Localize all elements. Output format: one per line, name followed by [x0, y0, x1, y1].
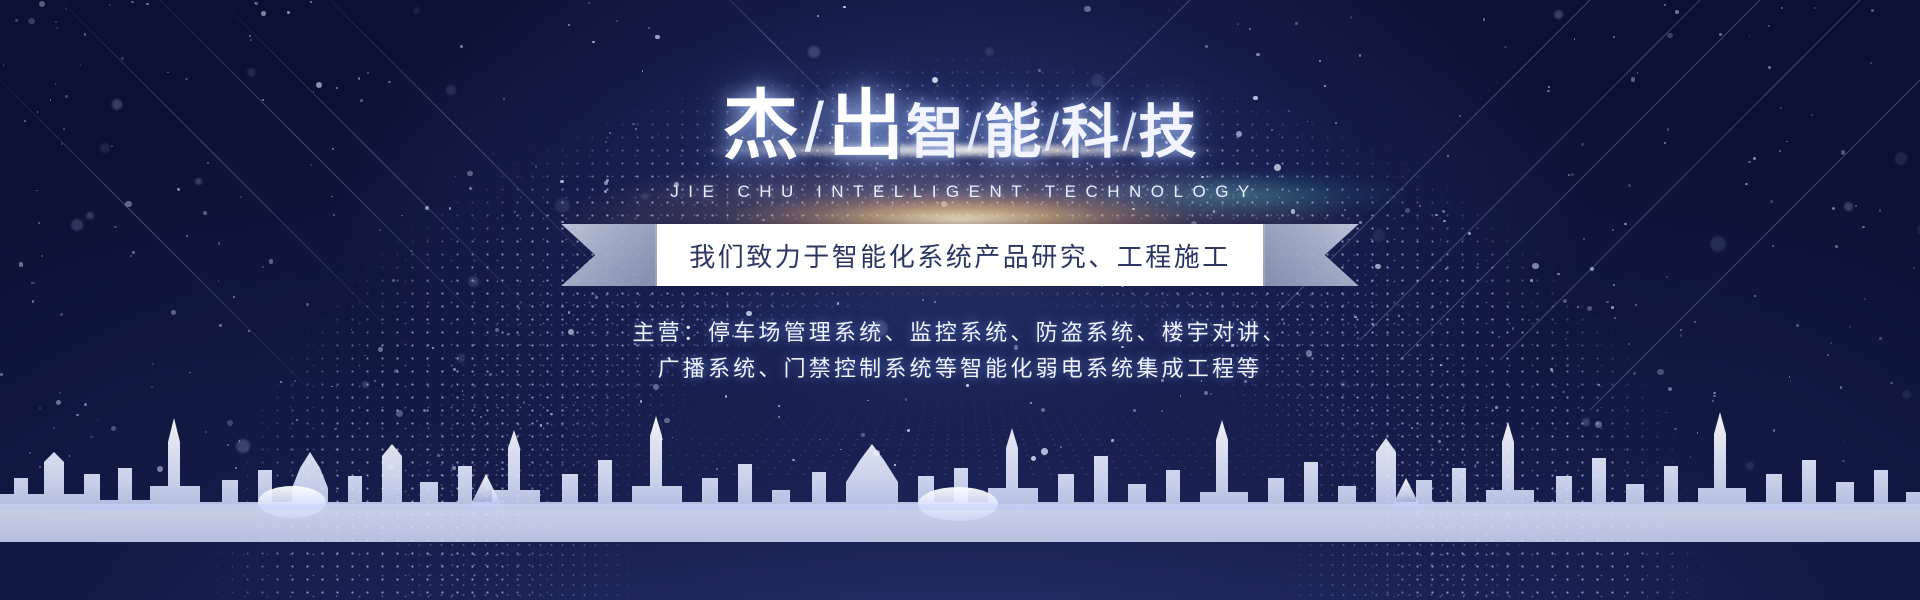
brand-title-char: 能	[983, 103, 1042, 161]
brand-title-char: 杰	[723, 88, 801, 164]
city-skyline-silhouette	[0, 382, 1920, 542]
banner-content: 杰/出智/能/科/技 JIE CHU INTELLIGENT TECHNOLOG…	[0, 0, 1920, 388]
brand-title: 杰/出智/能/科/技	[723, 88, 1198, 164]
brand-title-char: /	[967, 107, 981, 159]
brand-title-char: /	[1122, 107, 1136, 159]
ribbon-text: 我们致力于智能化系统产品研究、工程施工	[689, 237, 1231, 274]
description-line-1: 主营：停车场管理系统、监控系统、防盗系统、楼宇对讲、	[632, 316, 1287, 352]
brand-subtitle-english: JIE CHU INTELLIGENT TECHNOLOGY	[661, 182, 1259, 202]
brand-title-char: 出	[828, 88, 906, 164]
tagline-ribbon: 我们致力于智能化系统产品研究、工程施工	[561, 224, 1359, 286]
reflection-water-base	[0, 542, 1920, 600]
brand-title-char: 技	[1138, 103, 1197, 161]
brand-title-char: /	[805, 92, 824, 162]
brand-title-char: 科	[1061, 103, 1120, 161]
ribbon-body: 我们致力于智能化系统产品研究、工程施工	[655, 224, 1265, 286]
business-description: 主营：停车场管理系统、监控系统、防盗系统、楼宇对讲、 广播系统、门禁控制系统等智…	[632, 316, 1287, 388]
ribbon-tail-left	[561, 224, 657, 286]
brand-title-char: 智	[906, 103, 965, 161]
hero-banner: 杰/出智/能/科/技 JIE CHU INTELLIGENT TECHNOLOG…	[0, 0, 1920, 600]
brand-title-char: /	[1045, 107, 1059, 159]
ribbon-tail-right	[1263, 224, 1359, 286]
